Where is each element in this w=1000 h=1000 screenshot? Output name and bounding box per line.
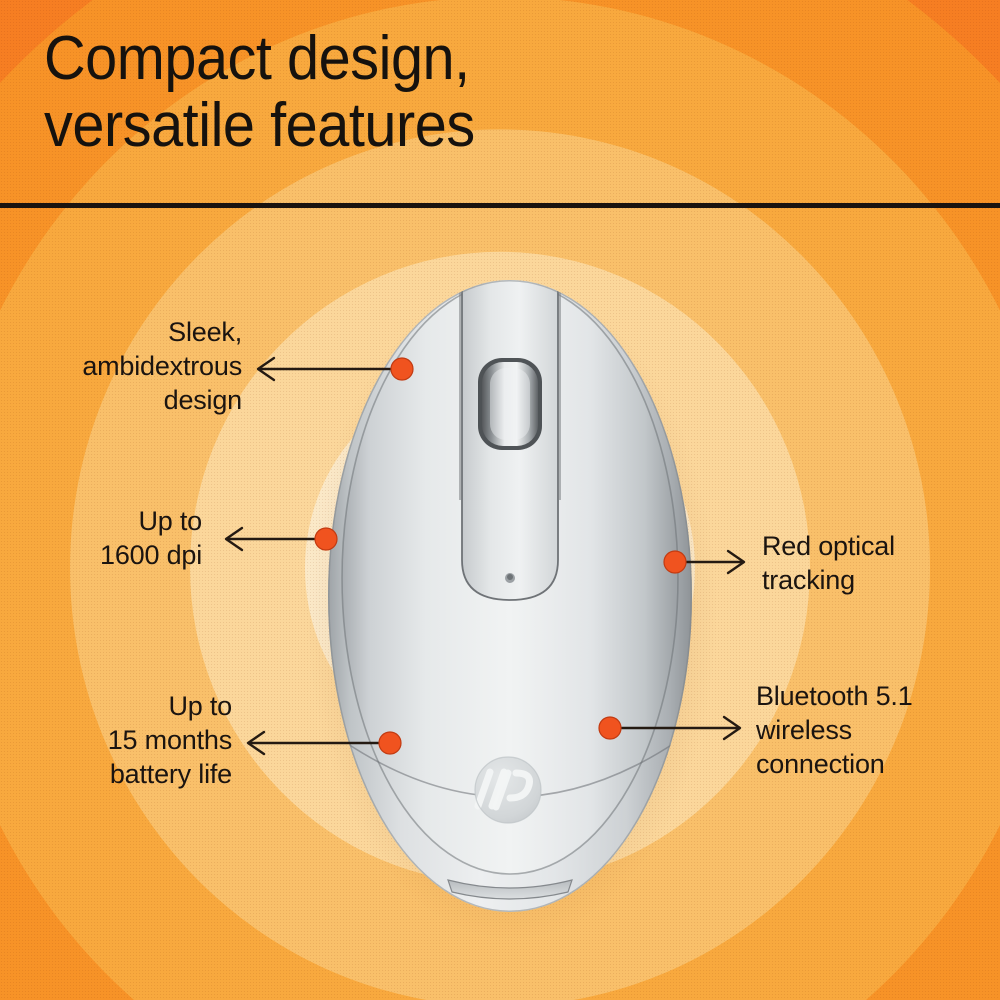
callout-label-bluetooth-5-1-wireless-connection: Bluetooth 5.1 wireless connection — [756, 680, 966, 781]
callout-label-sleek-ambidextrous-design: Sleek, ambidextrous design — [62, 316, 242, 417]
callout-label-red-optical-tracking: Red optical tracking — [762, 530, 962, 598]
infographic-canvas: Compact design, versatile features — [0, 0, 1000, 1000]
callout-label-up-to-15-months-battery-life: Up to 15 months battery life — [62, 690, 232, 791]
product-image-mouse — [0, 0, 1000, 1000]
callout-label-up-to-1600-dpi: Up to 1600 dpi — [62, 505, 202, 573]
